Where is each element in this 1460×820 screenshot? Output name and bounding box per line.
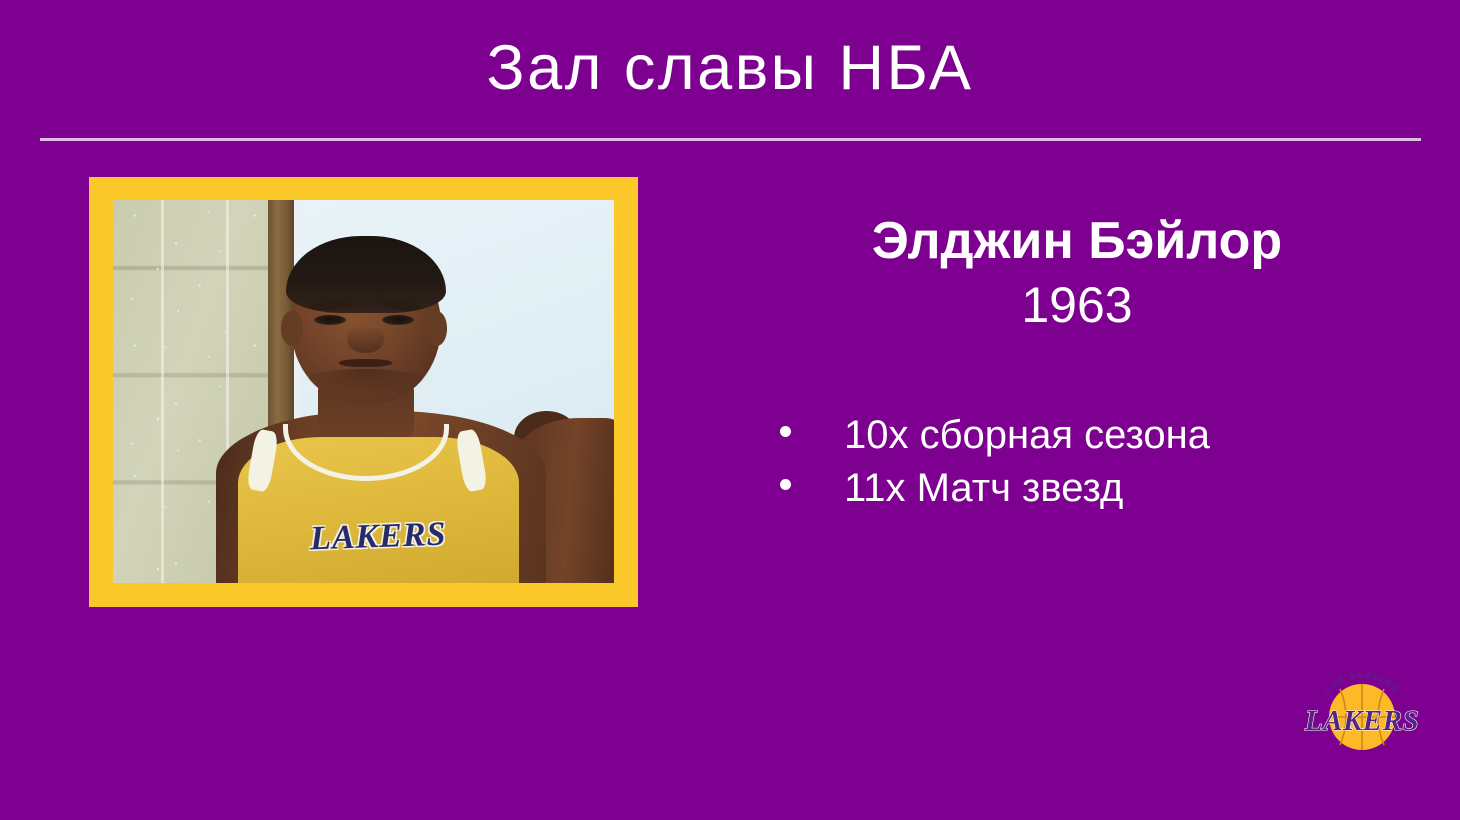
player-figure: LAKERS [113, 200, 614, 583]
player-hair [286, 236, 446, 313]
lakers-logo: LOS ANGELES LAKERS [1300, 668, 1424, 762]
bullet-icon [780, 479, 791, 490]
player-info-column: Элджин Бэйлор 1963 10x сборная сезона 11… [720, 212, 1434, 515]
player-name: Элджин Бэйлор [720, 212, 1434, 270]
slide-root: Зал славы НБА LAKERS [0, 0, 1460, 820]
player-nose [347, 326, 383, 353]
player-stats-list: 10x сборная сезона 11x Матч звезд [720, 409, 1434, 515]
title-divider [40, 138, 1421, 141]
player-eye-right [382, 315, 414, 325]
induction-year: 1963 [720, 276, 1434, 335]
logo-wordmark: LAKERS [1304, 705, 1419, 737]
player-ear-right [426, 311, 448, 345]
player-ear-left [281, 311, 303, 345]
player-jaw-shadow [303, 369, 428, 396]
player-photo-frame: LAKERS [89, 177, 638, 607]
list-item: 11x Матч звезд [720, 462, 1434, 515]
stat-label: 11x Матч звезд [844, 462, 1123, 515]
player-eye-left [314, 315, 346, 325]
page-title: Зал славы НБА [0, 34, 1460, 103]
list-item: 10x сборная сезона [720, 409, 1434, 462]
player-photo: LAKERS [113, 200, 614, 583]
bullet-icon [780, 426, 791, 437]
stat-label: 10x сборная сезона [844, 409, 1210, 462]
